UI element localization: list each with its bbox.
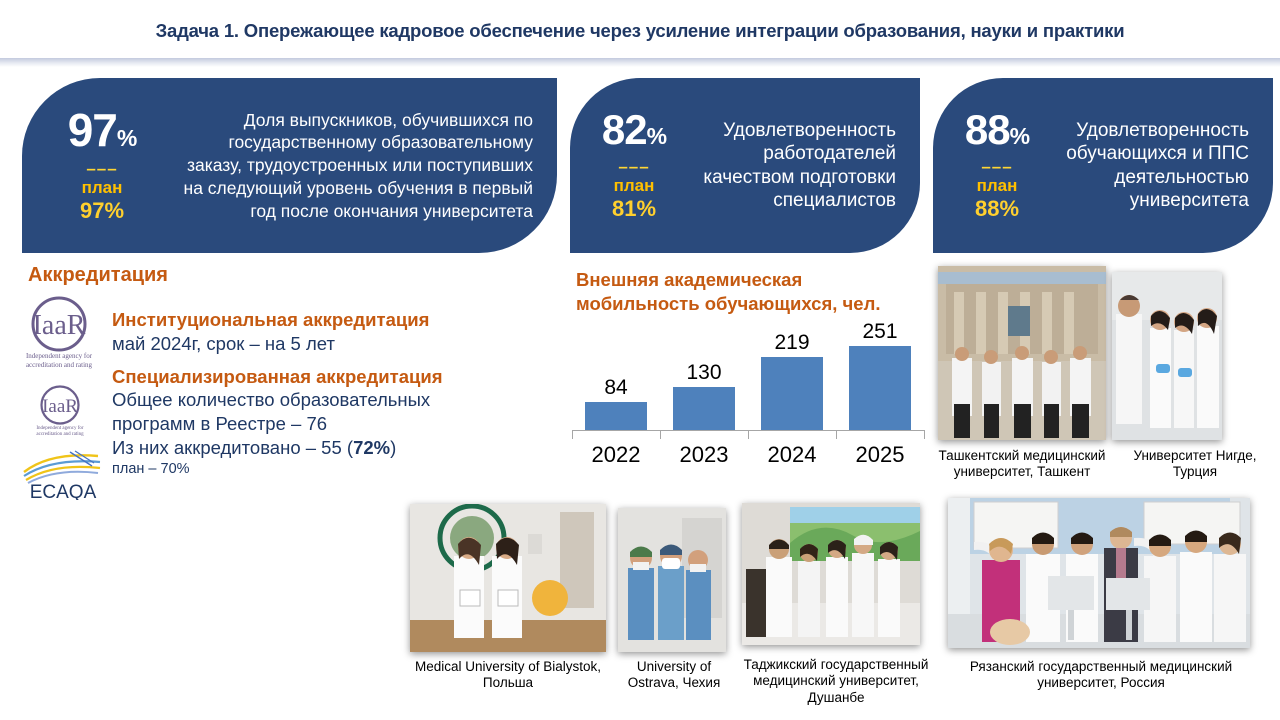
kpi-description: Удовлетворенность обучающихся и ППС деят… (1053, 119, 1259, 212)
chart-tick (748, 430, 749, 439)
photo-bialystok-university (410, 504, 606, 652)
kpi-card-graduates: 97% ––– план 97% Доля выпускников, обучи… (22, 78, 557, 253)
svg-text:IaaR: IaaR (42, 396, 78, 417)
chart-bar-value-label: 130 (660, 362, 748, 383)
slide-root: Задача 1. Опережающее кадровое обеспечен… (0, 0, 1280, 720)
chart-bar (849, 346, 911, 430)
chart-bar-value-label: 84 (572, 377, 660, 398)
svg-text:accreditation and rating: accreditation and rating (36, 432, 84, 437)
academic-mobility-bar-chart: 84130219251 2022202320242025 (572, 330, 924, 470)
chart-bar-slot: 84 (572, 330, 660, 430)
kpi-plan-label: план (588, 175, 680, 196)
kpi-value-percent: % (117, 125, 136, 151)
kpi-description: Доля выпускников, обучившихся по государ… (172, 109, 539, 223)
kpi-divider-dash: ––– (951, 158, 1043, 175)
institutional-accreditation-text: май 2024г, срок – на 5 лет (112, 332, 532, 356)
photo-caption: Таджикский государственный медицинский у… (730, 657, 942, 706)
slide-header: Задача 1. Опережающее кадровое обеспечен… (0, 0, 1280, 58)
kpi-plan-label: план (42, 177, 162, 198)
chart-bar-slot: 219 (748, 330, 836, 430)
chart-tick (836, 430, 837, 439)
kpi-value-percent: % (1010, 123, 1029, 149)
chart-category-label: 2024 (748, 442, 836, 468)
chart-title-line-2: мобильность обучающихся, чел. (576, 292, 916, 316)
kpi-metric-block: 82% ––– план 81% (578, 109, 690, 222)
svg-text:Independent agency for: Independent agency for (36, 426, 84, 431)
chart-category-label: 2025 (836, 442, 924, 468)
kpi-card-student-satisfaction: 88% ––– план 88% Удовлетворенность обуча… (933, 78, 1273, 253)
chart-tick (572, 430, 573, 439)
iaar-logo-small-icon: IaaR Independent agency for accreditatio… (30, 385, 90, 439)
photo-caption: Ташкентский медицинский университет, Таш… (925, 448, 1119, 481)
chart-category-labels: 2022202320242025 (572, 442, 924, 468)
svg-text:ECAQA: ECAQA (30, 482, 97, 500)
accredited-count-suffix: ) (390, 437, 396, 458)
spacer (112, 356, 532, 365)
kpi-description: Удовлетворенность работодателей качество… (690, 119, 906, 212)
specialized-accreditation-line2: программ в Реестре – 76 (112, 412, 532, 436)
chart-bar (585, 402, 647, 430)
chart-bar-value-label: 219 (748, 332, 836, 353)
photo-caption: Рязанский государственный медицинский ун… (940, 659, 1262, 692)
kpi-plan-value: 88% (951, 196, 1043, 221)
kpi-value: 88% (951, 109, 1043, 151)
photo-caption: University of Ostrava, Чехия (610, 659, 738, 692)
accreditation-text-block: Институциональная аккредитация май 2024г… (112, 308, 532, 478)
chart-bars-container: 84130219251 (572, 330, 924, 430)
accredited-count-prefix: Из них аккредитовано – 55 ( (112, 437, 353, 458)
photo-tashkent-medical-university (938, 266, 1106, 440)
kpi-card-employer-satisfaction: 82% ––– план 81% Удовлетворенность работ… (570, 78, 920, 253)
chart-category-label: 2022 (572, 442, 660, 468)
chart-bar (673, 387, 735, 430)
chart-bar-slot: 251 (836, 330, 924, 430)
accreditation-plan-note: план – 70% (112, 461, 532, 478)
kpi-value-number: 97 (68, 104, 117, 156)
kpi-value-number: 88 (965, 106, 1010, 153)
photo-nigde-university (1112, 272, 1222, 440)
kpi-value-percent: % (647, 123, 666, 149)
specialized-accreditation-line1: Общее количество образовательных (112, 388, 532, 412)
accredited-percent: 72% (353, 437, 390, 458)
kpi-value: 97% (42, 107, 162, 153)
kpi-metric-block: 88% ––– план 88% (941, 109, 1053, 222)
kpi-value: 82% (588, 109, 680, 151)
kpi-plan-value: 97% (42, 198, 162, 223)
chart-bar-slot: 130 (660, 330, 748, 430)
chart-bar (761, 357, 823, 430)
kpi-divider-dash: ––– (588, 158, 680, 175)
chart-category-label: 2023 (660, 442, 748, 468)
ecaqa-logo-icon: ECAQA (20, 450, 106, 500)
chart-tick (660, 430, 661, 439)
institutional-accreditation-heading: Институциональная аккредитация (112, 308, 532, 332)
page-title: Задача 1. Опережающее кадровое обеспечен… (0, 20, 1280, 42)
header-divider (0, 58, 1280, 67)
chart-tick (924, 430, 925, 439)
kpi-divider-dash: ––– (42, 160, 162, 177)
kpi-metric-block: 97% ––– план 97% (32, 107, 172, 224)
specialized-accreditation-heading: Специализированная аккредитация (112, 365, 532, 389)
chart-axis-ticks (572, 430, 924, 439)
photo-ostrava-university (618, 508, 726, 652)
svg-text:Independent agency for: Independent agency for (26, 352, 93, 360)
iaar-logo-large-icon: IaaR Independent agency for accreditatio… (16, 296, 102, 372)
chart-title: Внешняя академическая мобильность обучаю… (576, 268, 916, 315)
kpi-value-number: 82 (602, 106, 647, 153)
svg-text:IaaR: IaaR (33, 310, 86, 341)
photo-caption: Medical University of Bialystok, Польша (408, 659, 608, 692)
svg-text:accreditation and rating: accreditation and rating (26, 361, 93, 369)
kpi-plan-value: 81% (588, 196, 680, 221)
kpi-plan-label: план (951, 175, 1043, 196)
photo-caption: Университет Нигде, Турция (1120, 448, 1270, 481)
photo-tajik-medical-university (742, 503, 920, 645)
chart-title-line-1: Внешняя академическая (576, 268, 916, 292)
chart-bar-value-label: 251 (836, 321, 924, 342)
accreditation-section-title: Аккредитация (28, 264, 168, 287)
specialized-accreditation-line3: Из них аккредитовано – 55 (72%) (112, 436, 532, 460)
photo-ryazan-medical-university (948, 498, 1250, 648)
